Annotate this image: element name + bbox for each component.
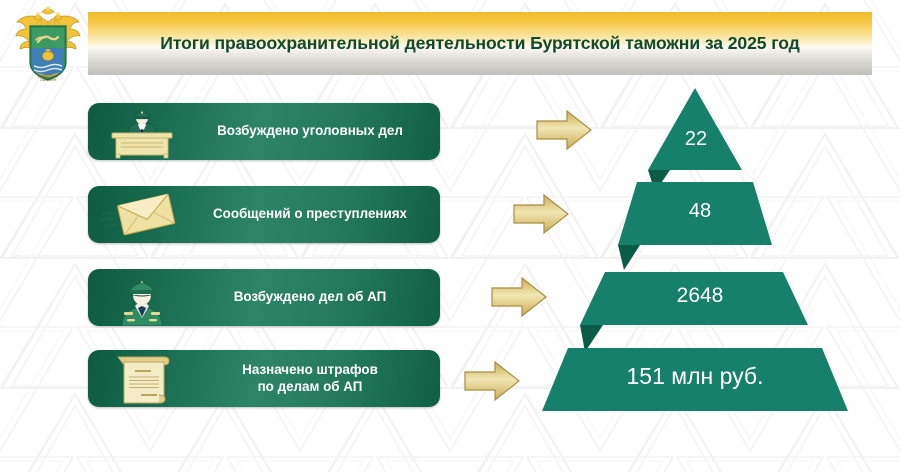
pyramid-value-4: 151 млн руб. bbox=[560, 363, 830, 390]
russian-customs-coat-of-arms-emblem: БУРЯТСКАЯ ТАМОЖНЯ bbox=[8, 4, 88, 84]
page-title: Итоги правоохранительной деятельности Бу… bbox=[88, 12, 872, 75]
arrow-right-icon bbox=[534, 106, 594, 154]
officer-at-desk-icon bbox=[94, 103, 190, 160]
scroll-document-icon bbox=[94, 350, 190, 407]
category-label: Возбуждено дел об АП bbox=[188, 269, 432, 326]
header-band: Итоги правоохранительной деятельности Бу… bbox=[88, 12, 872, 75]
pyramid-value-2: 48 bbox=[620, 200, 780, 223]
customs-officer-icon bbox=[94, 269, 190, 326]
svg-text:ТАМОЖНЯ: ТАМОЖНЯ bbox=[40, 78, 57, 82]
arrow-right-icon bbox=[462, 357, 522, 405]
pyramid-value-3: 2648 bbox=[600, 284, 800, 308]
category-label: Назначено штрафов по делам об АП bbox=[188, 350, 432, 407]
category-label: Сообщений о преступлениях bbox=[188, 186, 432, 243]
pyramid-tier-2-shadow bbox=[618, 245, 640, 270]
arrow-right-icon bbox=[489, 273, 549, 321]
category-label: Возбуждено уголовных дел bbox=[188, 103, 432, 160]
category-box-fines[interactable]: Назначено штрафов по делам об АП bbox=[88, 350, 440, 407]
infographic-slide: БУРЯТСКАЯ ТАМОЖНЯ Итоги правоохранительн… bbox=[0, 0, 900, 472]
category-box-crime-reports[interactable]: Сообщений о преступлениях bbox=[88, 186, 440, 243]
category-box-administrative-cases[interactable]: Возбуждено дел об АП bbox=[88, 269, 440, 326]
category-box-criminal-cases[interactable]: Возбуждено уголовных дел bbox=[88, 103, 440, 160]
flying-envelope-icon bbox=[94, 186, 190, 243]
pyramid-tier-3-shadow bbox=[580, 325, 603, 352]
pyramid-value-1: 22 bbox=[648, 128, 744, 151]
arrow-right-icon bbox=[511, 190, 571, 238]
